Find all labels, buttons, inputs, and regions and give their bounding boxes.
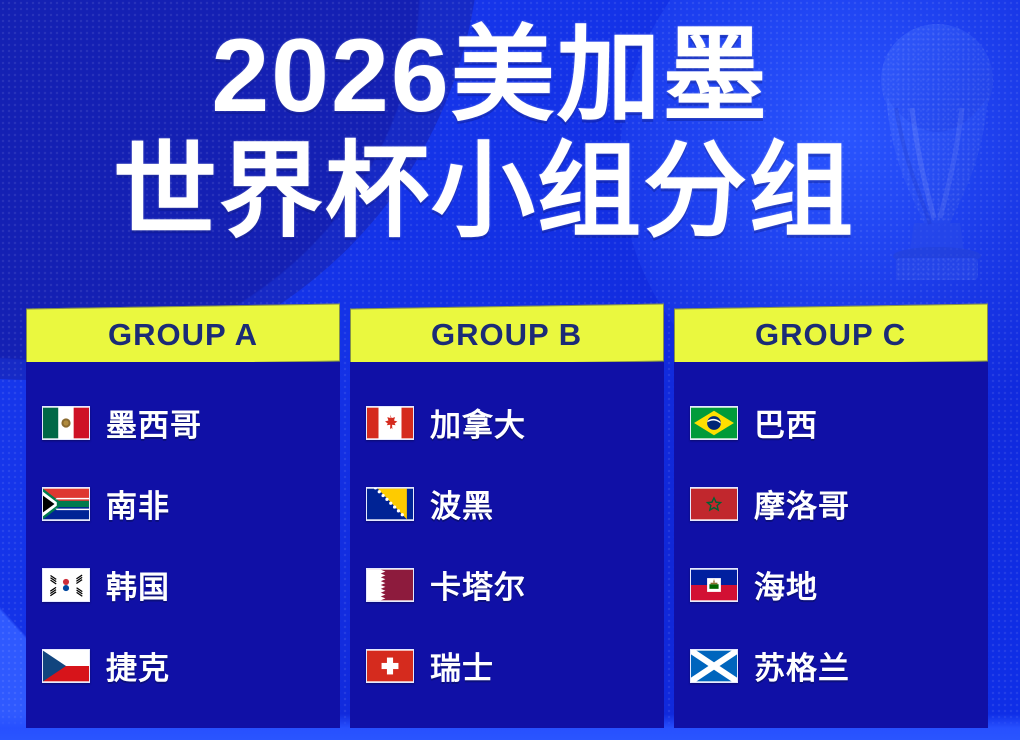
team-name: 墨西哥	[106, 400, 202, 445]
flag-switzerland-icon	[366, 649, 414, 683]
team-row: 南非	[26, 463, 340, 544]
team-row: 韩国	[26, 544, 340, 625]
team-row: 苏格兰	[674, 625, 988, 706]
group-panel: GROUP B加拿大波黑卡塔尔瑞士	[350, 306, 664, 728]
flag-haiti-icon	[690, 568, 738, 602]
title-line-1: 2026美加墨	[0, 24, 1020, 128]
flag-canada-icon	[366, 406, 414, 440]
poster-title: 2026美加墨 世界杯小组分组	[0, 24, 1020, 244]
poster-canvas: 2026美加墨 世界杯小组分组 GROUP A墨西哥南非韩国捷克GROUP B加…	[0, 0, 1020, 740]
team-name: 波黑	[430, 481, 494, 526]
group-title: GROUP C	[755, 317, 906, 353]
team-name: 韩国	[106, 562, 170, 607]
flag-south-korea-icon	[42, 568, 90, 602]
group-title: GROUP B	[431, 317, 582, 353]
group-header: GROUP C	[674, 304, 988, 367]
flag-morocco-icon	[690, 487, 738, 521]
team-row: 摩洛哥	[674, 463, 988, 544]
group-team-list: 加拿大波黑卡塔尔瑞士	[350, 362, 664, 728]
team-row: 巴西	[674, 382, 988, 463]
team-row: 卡塔尔	[350, 544, 664, 625]
title-line-2: 世界杯小组分组	[0, 140, 1020, 244]
group-header: GROUP B	[350, 304, 664, 367]
team-row: 墨西哥	[26, 382, 340, 463]
group-header: GROUP A	[26, 304, 340, 367]
group-team-list: 巴西摩洛哥海地苏格兰	[674, 362, 988, 728]
group-panel: GROUP A墨西哥南非韩国捷克	[26, 306, 340, 728]
group-panels: GROUP A墨西哥南非韩国捷克GROUP B加拿大波黑卡塔尔瑞士GROUP C…	[26, 306, 996, 728]
flag-scotland-icon	[690, 649, 738, 683]
team-name: 海地	[754, 562, 818, 607]
group-title: GROUP A	[108, 317, 258, 353]
team-row: 瑞士	[350, 625, 664, 706]
team-name: 巴西	[754, 400, 818, 445]
flag-bosnia-herzegovina-icon	[366, 487, 414, 521]
flag-mexico-icon	[42, 406, 90, 440]
flag-qatar-icon	[366, 568, 414, 602]
team-name: 南非	[106, 481, 170, 526]
team-name: 摩洛哥	[754, 481, 850, 526]
flag-czech-republic-icon	[42, 649, 90, 683]
team-row: 海地	[674, 544, 988, 625]
group-team-list: 墨西哥南非韩国捷克	[26, 362, 340, 728]
group-panel: GROUP C巴西摩洛哥海地苏格兰	[674, 306, 988, 728]
team-row: 加拿大	[350, 382, 664, 463]
flag-brazil-icon	[690, 406, 738, 440]
team-row: 波黑	[350, 463, 664, 544]
team-name: 瑞士	[430, 643, 494, 688]
team-name: 加拿大	[430, 400, 526, 445]
flag-south-africa-icon	[42, 487, 90, 521]
team-row: 捷克	[26, 625, 340, 706]
team-name: 苏格兰	[754, 643, 850, 688]
team-name: 卡塔尔	[430, 562, 526, 607]
team-name: 捷克	[106, 643, 170, 688]
